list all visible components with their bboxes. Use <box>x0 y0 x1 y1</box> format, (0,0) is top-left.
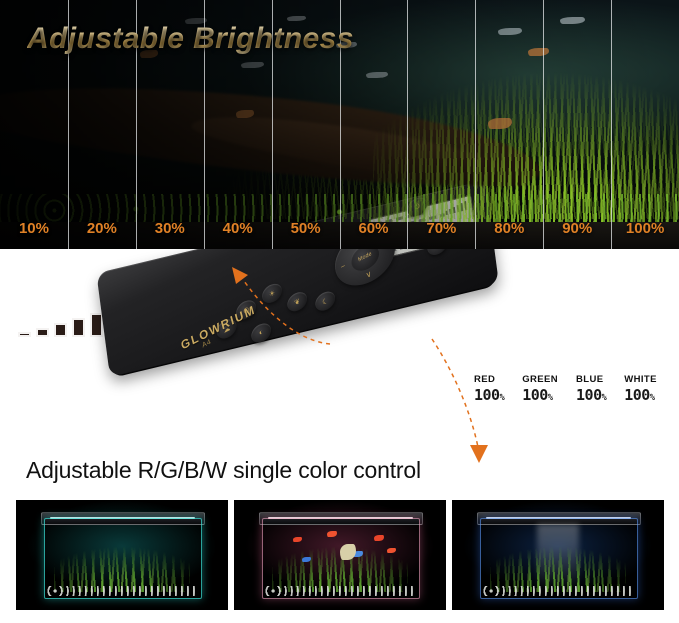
rgbw-channel-green: GREEN 100% <box>522 374 558 404</box>
brightness-level-30: 30% <box>136 217 204 241</box>
rgbw-label-red: RED <box>474 374 504 385</box>
rgbw-number-red: 100 <box>474 386 500 404</box>
tank-photo-pink <box>234 500 446 610</box>
tank-plants <box>490 540 626 593</box>
rgbw-unit-red: % <box>500 393 505 403</box>
leaf-icon: ❦ <box>285 289 309 315</box>
rgbw-channel-red: RED 100% <box>474 374 504 404</box>
brightness-step-bar <box>54 323 67 337</box>
brightness-banner: Adjustable Brightness 10% 20% 30% 40% 50… <box>0 0 679 249</box>
brightness-step-bar <box>18 332 31 337</box>
sun-icon: ☀ <box>260 280 284 306</box>
tank-gravel <box>264 586 417 596</box>
dpad-minus-icon[interactable]: − <box>340 262 346 272</box>
dpad-down-icon[interactable]: ∨ <box>365 270 372 280</box>
brightness-step-bar <box>72 318 85 337</box>
brightness-level-10: 10% <box>0 217 68 241</box>
rgbw-number-green: 100 <box>522 386 548 404</box>
level-divider <box>407 0 408 249</box>
brightness-level-20: 20% <box>68 217 136 241</box>
moon-button[interactable]: ☾ <box>313 288 337 314</box>
rgbw-unit-white: % <box>650 393 655 403</box>
brightness-step-bar <box>36 328 49 337</box>
level-divider <box>611 0 612 249</box>
tank-plants <box>54 540 190 593</box>
brightness-level-80: 80% <box>475 217 543 241</box>
rgbw-label-blue: BLUE <box>576 374 606 385</box>
rgbw-channel-blue: BLUE 100% <box>576 374 606 404</box>
rgbw-number-white: 100 <box>624 386 650 404</box>
rgbw-unit-blue: % <box>602 393 607 403</box>
sun-button[interactable]: ☀ <box>260 280 284 306</box>
level-divider <box>475 0 476 249</box>
brightness-level-90: 90% <box>543 217 611 241</box>
tank-photo-blue <box>452 500 664 610</box>
tank-gravel <box>46 586 199 596</box>
rgbw-number-blue: 100 <box>576 386 602 404</box>
arrow-head-down <box>470 445 488 463</box>
tank-gravel <box>482 586 635 596</box>
brightness-level-50: 50% <box>272 217 340 241</box>
rgbw-value-red: 100% <box>474 386 504 404</box>
rgbw-readout: RED 100% GREEN 100% BLUE 100% WHITE 100% <box>474 374 657 404</box>
dim-icon: ◐ <box>249 320 273 346</box>
dim-button[interactable]: ◐ <box>249 320 273 346</box>
brightness-level-40: 40% <box>204 217 272 241</box>
rgbw-value-white: 100% <box>624 386 657 404</box>
brightness-percent-row: 10% 20% 30% 40% 50% 60% 70% 80% 90% 100% <box>0 217 679 241</box>
banner-title: Adjustable Brightness <box>27 22 354 56</box>
rgbw-label-white: WHITE <box>624 374 657 385</box>
tank-photo-teal <box>16 500 228 610</box>
brightness-level-70: 70% <box>407 217 475 241</box>
rgbw-value-blue: 100% <box>576 386 606 404</box>
rgbw-unit-green: % <box>548 393 553 403</box>
brightness-level-60: 60% <box>340 217 408 241</box>
tank-photo-strip <box>16 500 664 610</box>
rgbw-label-green: GREEN <box>522 374 558 385</box>
brightness-step-bar <box>90 313 103 337</box>
rgbw-value-green: 100% <box>522 386 558 404</box>
rgbw-channel-white: WHITE 100% <box>624 374 657 404</box>
remote-section: ∧ ∨ − + Mode ⏻ ⚙ ☀ ❦ ☾ ◴ ☁ <box>0 249 679 489</box>
remote-control[interactable]: ∧ ∨ − + Mode ⏻ ⚙ ☀ ❦ ☾ ◴ ☁ <box>110 273 540 433</box>
level-divider <box>543 0 544 249</box>
moon-icon: ☾ <box>313 288 337 314</box>
rgbw-section-heading: Adjustable R/G/B/W single color control <box>26 457 421 484</box>
brightness-level-100: 100% <box>611 217 679 241</box>
leaf-button[interactable]: ❦ <box>285 289 309 315</box>
